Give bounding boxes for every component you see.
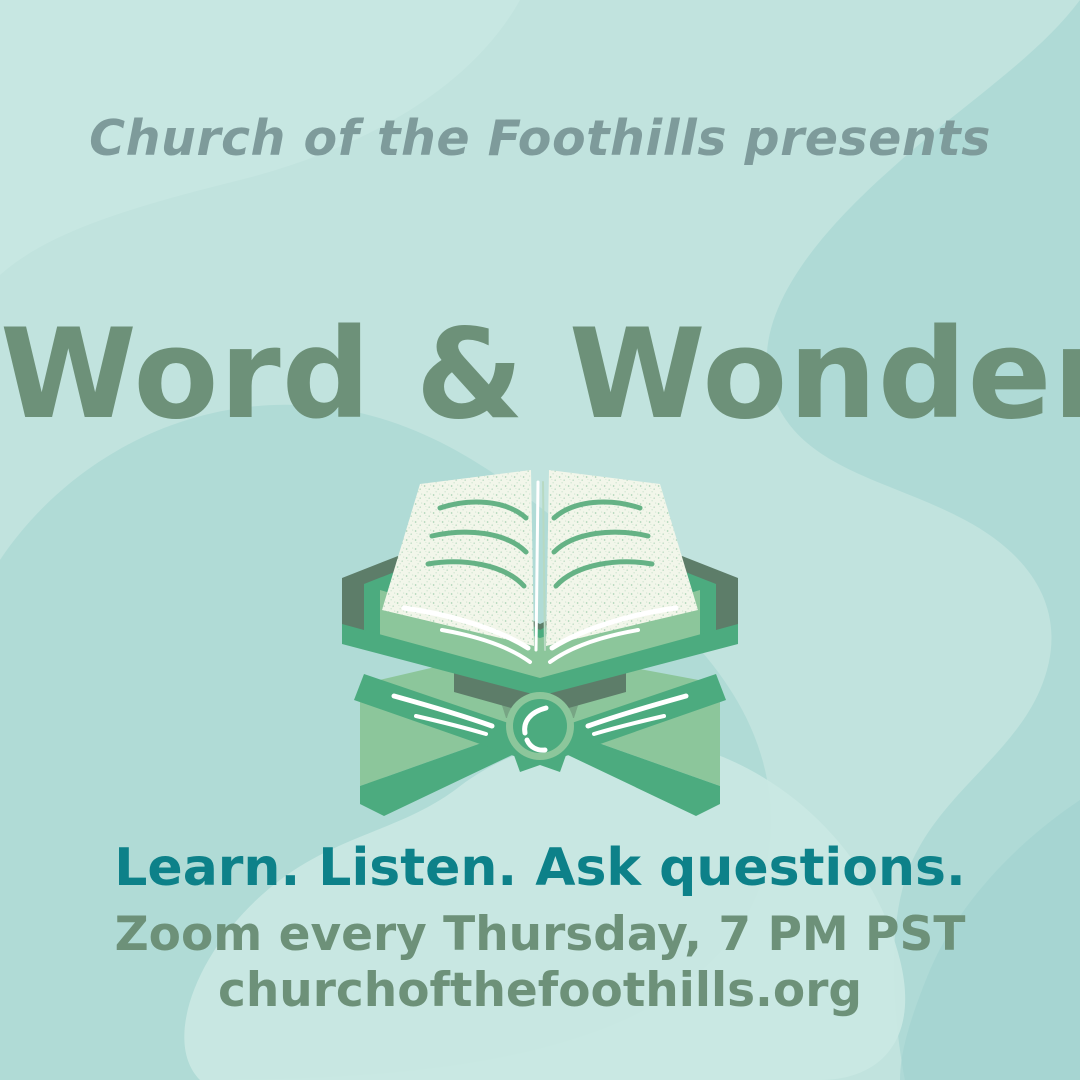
website-line[interactable]: churchofthefoothills.org [0,962,1080,1020]
page-title: Word & Wonder [0,305,1080,445]
schedule-line: Zoom every Thursday, 7 PM PST [0,906,1080,964]
poster-text-layer: Church of the Foothills presents Word & … [0,0,1080,1080]
poster-canvas: Church of the Foothills presents Word & … [0,0,1080,1080]
presenter-line: Church of the Foothills presents [0,108,1080,170]
tagline: Learn. Listen. Ask questions. [0,836,1080,900]
